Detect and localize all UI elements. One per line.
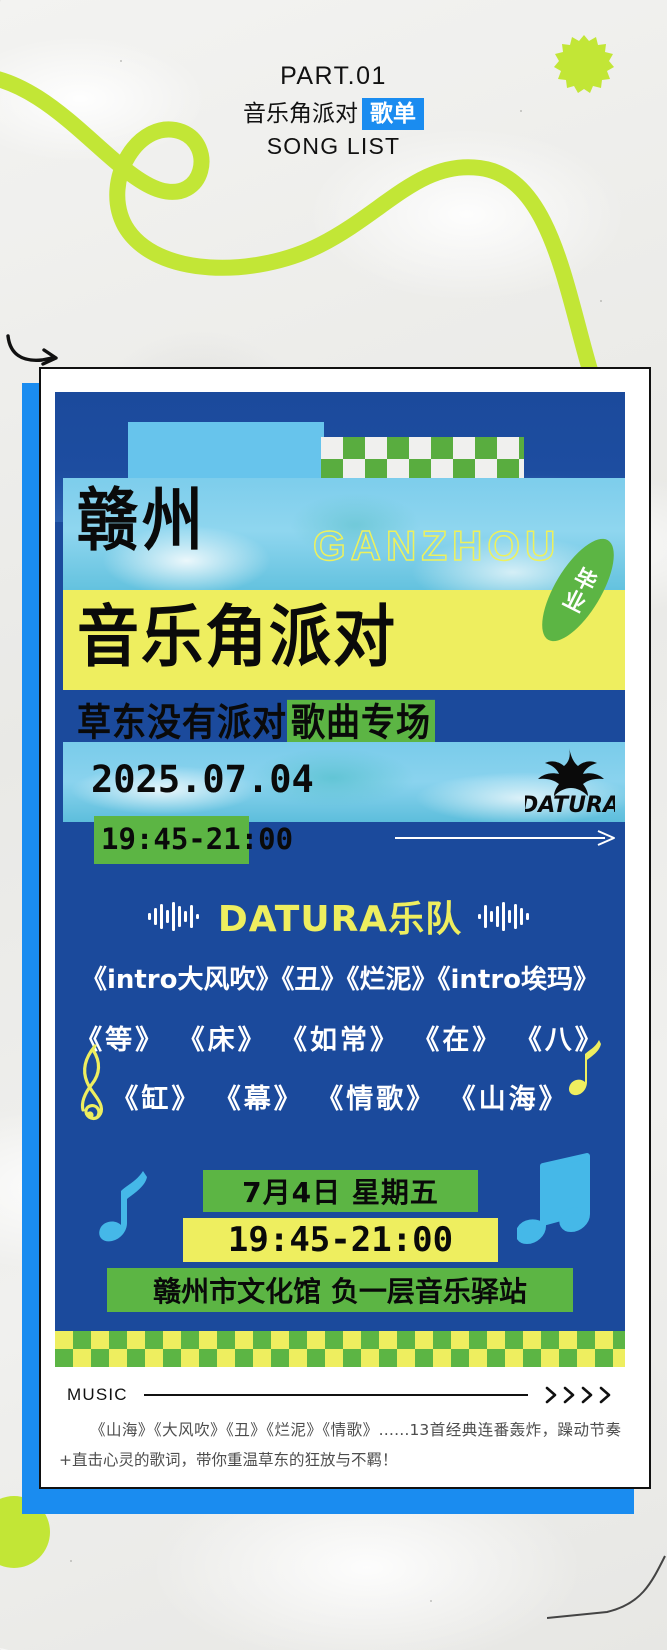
datura-brand-logo-icon: DATURA [525, 744, 615, 818]
chevron-right-icon [544, 1385, 559, 1405]
chevrons-group [544, 1385, 613, 1405]
songlist-tag-badge: 歌单 [362, 98, 424, 130]
poster-main-title: 音乐角派对 [77, 592, 397, 682]
subtitle-highlight: 歌曲专场 [287, 700, 435, 747]
subtitle-plain: 草东没有派对 [77, 701, 287, 746]
chevron-right-icon [598, 1385, 613, 1405]
song-row: 《缸》 《幕》 《情歌》 《山海》 [55, 1077, 625, 1116]
header-en-title: SONG LIST [0, 133, 667, 160]
event-venue-text: 赣州市文化馆 负一层音乐驿站 [107, 1268, 573, 1312]
music-note-blue-right-icon [517, 1152, 595, 1244]
checkerboard-bottom [55, 1331, 625, 1367]
event-date-box: 7月4日 星期五 [203, 1170, 478, 1212]
paper-speck [70, 1560, 72, 1562]
part-label: PART.01 [0, 60, 667, 94]
datura-wordmark: DATURA [525, 793, 615, 818]
header-cn-title: 音乐角派对 [243, 100, 358, 126]
chevron-right-icon [562, 1385, 577, 1405]
band-name: DATURA乐队 [218, 890, 462, 942]
song-row: 《intro大风吹》《丑》《烂泥》《intro埃玛》 [55, 959, 625, 996]
corner-decoration-line [547, 1550, 667, 1630]
poster-footer: MUSIC 《山海》《大风吹》《丑》《烂泥》《情歌》……13首经典连番轰炸，躁动… [55, 1385, 625, 1475]
event-poster: 赣州 GANZHOU 音乐角派对 毕业 草东没有派对歌曲专场 2025.07.0… [55, 392, 625, 1367]
header-subtitle-row: 音乐角派对歌单 [0, 96, 667, 131]
poster-time: 19:45-21:00 [101, 822, 293, 856]
music-label: MUSIC [67, 1385, 128, 1405]
footer-divider-rule [144, 1394, 528, 1396]
event-venue-box: 赣州市文化馆 负一层音乐驿站 [107, 1268, 573, 1312]
poster-card[interactable]: 赣州 GANZHOU 音乐角派对 毕业 草东没有派对歌曲专场 2025.07.0… [39, 367, 651, 1489]
poster-date: 2025.07.04 [91, 758, 314, 801]
music-note-blue-left-icon [97, 1167, 151, 1245]
page-header: PART.01 音乐角派对歌单 SONG LIST [0, 60, 667, 160]
waveform-left-icon [146, 901, 204, 931]
right-arrow-line-icon [395, 826, 617, 850]
event-time-box: 19:45-21:00 [183, 1218, 498, 1262]
event-date-text: 7月4日 星期五 [203, 1170, 478, 1212]
checkerboard-top [321, 437, 524, 481]
chevron-right-icon [580, 1385, 595, 1405]
paper-speck [430, 1600, 432, 1602]
waveform-right-icon [476, 901, 534, 931]
song-row: 《等》 《床》 《如常》 《在》 《八》 [55, 1018, 625, 1057]
footer-heading-row: MUSIC [55, 1385, 625, 1405]
band-name-row: DATURA乐队 [55, 890, 625, 942]
event-time-text: 19:45-21:00 [183, 1218, 498, 1262]
music-note-yellow-icon [565, 1038, 607, 1100]
treble-clef-icon [73, 1042, 115, 1124]
poster-subtitle: 草东没有派对歌曲专场 [77, 692, 435, 747]
hand-drawn-arrow-icon [6, 330, 68, 372]
footer-description: 《山海》《大风吹》《丑》《烂泥》《情歌》……13首经典连番轰炸，躁动节奏+直击心… [55, 1415, 625, 1475]
poster-city-en: GANZHOU [313, 522, 560, 570]
